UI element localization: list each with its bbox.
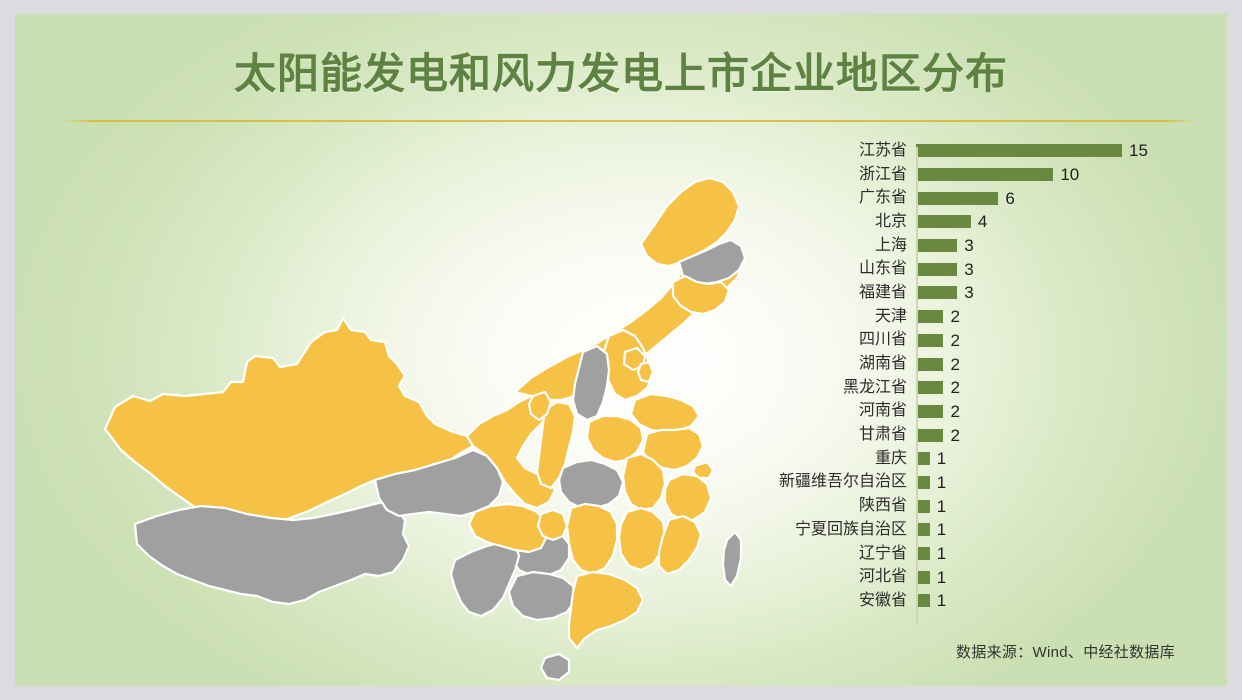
bar-track: 1: [916, 471, 1205, 495]
bar-chart-row: 湖南省2: [745, 352, 1205, 376]
map-region-tibet: [135, 502, 409, 604]
bar-track: 1: [916, 447, 1205, 471]
bar-category-label: 福建省: [745, 285, 916, 301]
bar-chart-row: 上海3: [745, 234, 1205, 258]
bar: [916, 144, 1122, 157]
bar-category-label: 辽宁省: [745, 546, 916, 562]
bar-value-label: 2: [950, 308, 959, 325]
bar-track: 2: [916, 376, 1205, 400]
bar-value-label: 1: [937, 498, 946, 515]
bar: [916, 215, 971, 228]
bar-chart-row: 安徽省1: [745, 589, 1205, 613]
bar-value-label: 1: [937, 545, 946, 562]
map-region-taiwan: [723, 532, 741, 586]
bar-value-label: 3: [964, 284, 973, 301]
bar-category-label: 天津: [745, 309, 916, 325]
bar-category-label: 江苏省: [745, 143, 916, 159]
bar-chart-row: 宁夏回族自治区1: [745, 518, 1205, 542]
bar-value-label: 6: [1005, 190, 1014, 207]
bar-chart-row: 甘肃省2: [745, 423, 1205, 447]
bar-value-label: 2: [950, 427, 959, 444]
bar-chart-row: 浙江省10: [745, 163, 1205, 187]
bar-track: 3: [916, 281, 1205, 305]
map-region-hainan: [541, 654, 569, 680]
bar-category-label: 湖南省: [745, 356, 916, 372]
bar-chart-row: 重庆1: [745, 447, 1205, 471]
bar: [916, 381, 943, 394]
chart-axis-line: [916, 147, 918, 623]
map-region-tianjin: [638, 362, 653, 382]
bar-category-label: 甘肃省: [745, 427, 916, 443]
map-region-fujian: [659, 516, 701, 574]
bar-value-label: 2: [950, 356, 959, 373]
bar-chart-row: 江苏省15: [745, 139, 1205, 163]
map-region-sichuan: [469, 504, 547, 552]
bar-chart-row: 河北省1: [745, 565, 1205, 589]
bar-category-label: 广东省: [745, 190, 916, 206]
bar-category-label: 新疆维吾尔自治区: [745, 474, 916, 490]
bar-value-label: 2: [950, 403, 959, 420]
bar-value-label: 4: [978, 213, 987, 230]
bar-category-label: 陕西省: [745, 498, 916, 514]
bar: [916, 263, 957, 276]
map-region-guangxi: [509, 572, 575, 620]
bar: [916, 476, 930, 489]
bar-chart-row: 黑龙江省2: [745, 376, 1205, 400]
map-region-chongqing: [538, 510, 567, 540]
bar-chart-rows: 江苏省15浙江省10广东省6北京4上海3山东省3福建省3天津2四川省2湖南省2黑…: [745, 139, 1205, 613]
bar-value-label: 1: [937, 592, 946, 609]
map-region-shandong: [631, 394, 699, 432]
map-region-hubei: [559, 460, 623, 508]
bar-track: 6: [916, 186, 1205, 210]
bar-track: 15: [916, 139, 1205, 163]
bar: [916, 571, 930, 584]
map-region-yunnan: [451, 542, 519, 616]
bar-value-label: 10: [1060, 166, 1079, 183]
bar-value-label: 1: [937, 569, 946, 586]
bar: [916, 452, 930, 465]
bar-track: 1: [916, 494, 1205, 518]
infographic-root: 太阳能发电和风力发电上市企业地区分布: [0, 0, 1242, 700]
bar-track: 1: [916, 589, 1205, 613]
bar: [916, 547, 930, 560]
bar: [916, 429, 943, 442]
bar: [916, 523, 930, 536]
bar-chart-row: 四川省2: [745, 329, 1205, 353]
bar-category-label: 安徽省: [745, 593, 916, 609]
bar-chart: 江苏省15浙江省10广东省6北京4上海3山东省3福建省3天津2四川省2湖南省2黑…: [745, 139, 1205, 639]
infographic-canvas: 太阳能发电和风力发电上市企业地区分布: [15, 14, 1227, 686]
bar-track: 2: [916, 352, 1205, 376]
bar-chart-row: 山东省3: [745, 257, 1205, 281]
bar-track: 2: [916, 423, 1205, 447]
bar-chart-row: 福建省3: [745, 281, 1205, 305]
map-region-zhejiang: [665, 474, 711, 520]
bar-chart-row: 天津2: [745, 305, 1205, 329]
title-divider: [60, 120, 1198, 122]
bar-category-label: 北京: [745, 214, 916, 230]
map-region-hunan: [567, 504, 617, 574]
bar-category-label: 浙江省: [745, 167, 916, 183]
bar: [916, 334, 943, 347]
bar-track: 1: [916, 518, 1205, 542]
bar-track: 2: [916, 329, 1205, 353]
bar: [916, 239, 957, 252]
bar-value-label: 1: [937, 474, 946, 491]
bar: [916, 310, 943, 323]
bar: [916, 594, 930, 607]
bar-chart-row: 陕西省1: [745, 494, 1205, 518]
bar-track: 1: [916, 542, 1205, 566]
bar-track: 3: [916, 234, 1205, 258]
bar-category-label: 上海: [745, 238, 916, 254]
bar: [916, 358, 943, 371]
bar-category-label: 宁夏回族自治区: [745, 522, 916, 538]
bar: [916, 405, 943, 418]
bar-track: 2: [916, 400, 1205, 424]
bar-track: 10: [916, 163, 1205, 187]
bar-category-label: 四川省: [745, 332, 916, 348]
source-note: 数据来源：Wind、中经社数据库: [956, 641, 1175, 662]
bar: [916, 192, 998, 205]
bar-chart-row: 广东省6: [745, 186, 1205, 210]
china-map: [75, 124, 775, 684]
bar-category-label: 河北省: [745, 569, 916, 585]
bar-track: 2: [916, 305, 1205, 329]
bar: [916, 286, 957, 299]
bar-value-label: 2: [950, 332, 959, 349]
bar-category-label: 重庆: [745, 451, 916, 467]
bar-value-label: 15: [1129, 142, 1148, 159]
bar-category-label: 河南省: [745, 403, 916, 419]
map-region-guangdong: [569, 572, 643, 648]
bar: [916, 168, 1053, 181]
bar-track: 4: [916, 210, 1205, 234]
bar-value-label: 3: [964, 237, 973, 254]
bar-chart-row: 新疆维吾尔自治区1: [745, 471, 1205, 495]
bar-chart-row: 河南省2: [745, 400, 1205, 424]
bar-value-label: 1: [937, 450, 946, 467]
bar-category-label: 山东省: [745, 261, 916, 277]
bar-category-label: 黑龙江省: [745, 380, 916, 396]
bar-value-label: 3: [964, 261, 973, 278]
bar-chart-row: 辽宁省1: [745, 542, 1205, 566]
page-title: 太阳能发电和风力发电上市企业地区分布: [15, 50, 1227, 98]
bar-value-label: 2: [950, 379, 959, 396]
bar-track: 3: [916, 257, 1205, 281]
bar: [916, 500, 930, 513]
bar-track: 1: [916, 565, 1205, 589]
bar-chart-row: 北京4: [745, 210, 1205, 234]
bar-value-label: 1: [937, 521, 946, 538]
